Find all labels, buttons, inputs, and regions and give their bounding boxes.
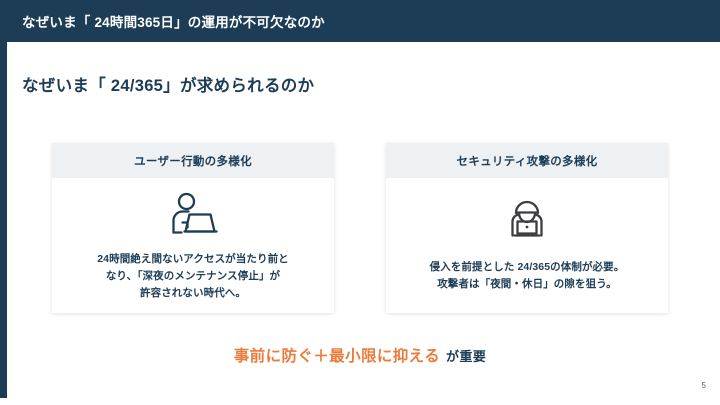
card-security-attacks: セキュリティ攻撃の多様化 侵入を前提とした 24/365の体制が必要。 攻撃者は… bbox=[386, 143, 668, 313]
card-body-line: 侵入を前提とした 24/365の体制が必要。 bbox=[396, 259, 658, 276]
card-body-line: 許容されない時代へ。 bbox=[62, 285, 324, 302]
card-body-line: 24時間絶え間ないアクセスが当たり前と bbox=[62, 251, 324, 268]
hooded-attacker-laptop-icon bbox=[386, 185, 668, 251]
bottom-emphasis-text: 事前に防ぐ＋最小限に抑える bbox=[234, 348, 440, 365]
header-title: なぜいま「 24時間365日」の運用が不可欠なのか bbox=[22, 11, 325, 31]
card-header-band: ユーザー行動の多様化 bbox=[52, 143, 334, 178]
card-body-text: 24時間絶え間ないアクセスが当たり前と なり、「深夜のメンテナンス停止」が 許容… bbox=[62, 251, 324, 302]
bottom-tail-text: が重要 bbox=[446, 349, 486, 364]
slide-canvas: なぜいま「 24時間365日」の運用が不可欠なのか なぜいま「 24/365」が… bbox=[0, 0, 720, 405]
card-heading: セキュリティ攻撃の多様化 bbox=[457, 153, 598, 169]
card-body-line: なり、「深夜のメンテナンス停止」が bbox=[62, 268, 324, 285]
card-user-behavior: ユーザー行動の多様化 24時間絶え間ないアクセスが当たり前と なり、「深夜のメン… bbox=[52, 143, 334, 313]
page-number: 5 bbox=[702, 381, 706, 390]
card-heading: ユーザー行動の多様化 bbox=[134, 153, 252, 169]
card-body-text: 侵入を前提とした 24/365の体制が必要。 攻撃者は「夜間・休日」の隙を狙う。 bbox=[396, 259, 658, 293]
card-body-line: 攻撃者は「夜間・休日」の隙を狙う。 bbox=[396, 276, 658, 293]
bottom-emphasis-line: 事前に防ぐ＋最小限に抑えるが重要 bbox=[0, 344, 720, 366]
person-at-laptop-icon bbox=[52, 185, 334, 251]
card-header-band: セキュリティ攻撃の多様化 bbox=[386, 143, 668, 178]
page-title: なぜいま「 24/365」が求められるのか bbox=[22, 72, 314, 96]
